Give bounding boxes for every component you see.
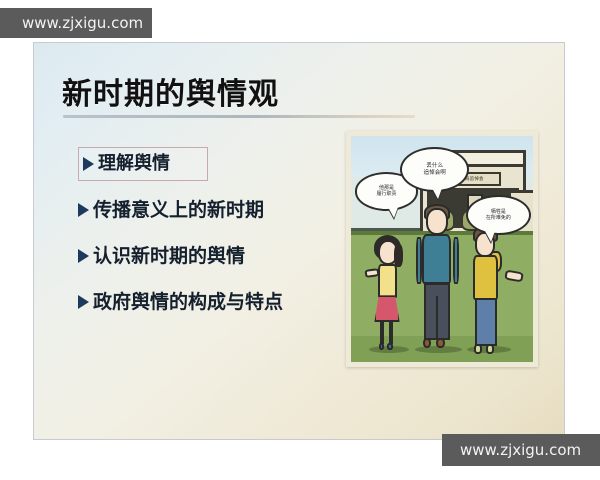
girl-shoe bbox=[387, 343, 393, 350]
girl-hair-side bbox=[394, 244, 403, 267]
speech-bubble-youth-line2: 在所难免的 bbox=[486, 215, 511, 221]
watermark-top-left: www.zjxigu.com bbox=[0, 8, 152, 38]
bullet-item-4[interactable]: 政府舆情的构成与特点 bbox=[78, 279, 368, 325]
man-shoe bbox=[423, 338, 431, 348]
speech-bubble-man-line2: 追悼会啊 bbox=[424, 170, 446, 177]
triangle-bullet-icon bbox=[78, 295, 89, 309]
girl-leg bbox=[380, 321, 384, 344]
triangle-bullet-icon bbox=[78, 249, 89, 263]
slide-title: 新时期的舆情观 bbox=[62, 69, 279, 113]
bullet-item-1-label: 理解舆情 bbox=[98, 155, 170, 173]
character-man bbox=[413, 204, 462, 353]
girl-skirt bbox=[374, 295, 399, 322]
triangle-bullet-icon bbox=[78, 203, 89, 217]
man-shoe bbox=[436, 338, 444, 348]
cartoon-illustration: 民警张宁海追悼会 他那是 履行职责 丢什么 bbox=[351, 136, 533, 362]
character-youth bbox=[466, 226, 513, 357]
girl-arm bbox=[364, 268, 379, 278]
illustration-frame: 民警张宁海追悼会 他那是 履行职责 丢什么 bbox=[346, 131, 538, 367]
title-underline-rule bbox=[63, 115, 415, 118]
man-head bbox=[426, 208, 449, 235]
bullet-item-3[interactable]: 认识新时期的舆情 bbox=[78, 233, 368, 279]
youth-shoe bbox=[474, 344, 482, 353]
bullet-item-3-label: 认识新时期的舆情 bbox=[93, 247, 245, 266]
bullet-item-2[interactable]: 传播意义上的新时期 bbox=[78, 187, 368, 233]
bullet-item-1[interactable]: 理解舆情 bbox=[78, 147, 208, 181]
screenshot-root: 新时期的舆情观 理解舆情 传播意义上的新时期 认识新时期的舆情 政府舆情的构成与… bbox=[0, 0, 600, 480]
youth-shoe bbox=[486, 344, 494, 353]
speech-bubble-man-line1: 丢什么 bbox=[426, 163, 443, 170]
bullet-list: 理解舆情 传播意义上的新时期 认识新时期的舆情 政府舆情的构成与特点 bbox=[78, 147, 368, 325]
girl-shoe bbox=[379, 343, 385, 350]
youth-hoodie bbox=[473, 255, 498, 300]
bullet-item-2-label: 传播意义上的新时期 bbox=[93, 201, 264, 220]
girl-top bbox=[378, 264, 397, 298]
man-leg-divider bbox=[436, 296, 438, 338]
man-sweater bbox=[422, 234, 451, 285]
girl-leg bbox=[389, 321, 393, 344]
presentation-slide: 新时期的舆情观 理解舆情 传播意义上的新时期 认识新时期的舆情 政府舆情的构成与… bbox=[33, 42, 565, 440]
speech-bubble-girl-line2: 履行职责 bbox=[376, 191, 396, 197]
youth-jeans bbox=[475, 298, 497, 345]
watermark-bottom-right: www.zjxigu.com bbox=[442, 434, 600, 466]
man-arm bbox=[453, 237, 459, 285]
character-girl bbox=[367, 235, 411, 348]
triangle-bullet-icon bbox=[83, 157, 94, 171]
bullet-item-4-label: 政府舆情的构成与特点 bbox=[93, 293, 283, 312]
